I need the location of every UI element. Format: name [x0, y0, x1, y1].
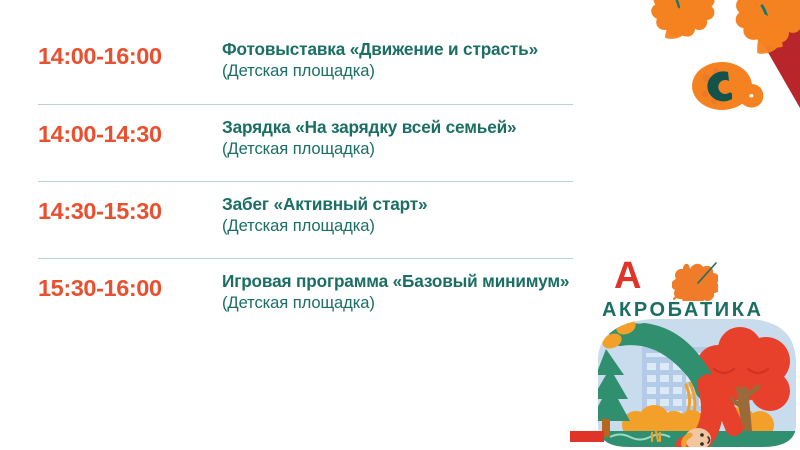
spiral-swirl-icon — [692, 62, 758, 110]
oak-leaf-icon — [733, 0, 800, 55]
schedule-info: Фотовыставка «Движение и страсть» (Детск… — [222, 38, 573, 82]
schedule-info: Забег «Активный старт» (Детская площадка… — [222, 193, 573, 237]
schedule-row[interactable]: 14:00-14:30 Зарядка «На зарядку всей сем… — [38, 104, 573, 181]
oak-leaf-icon — [672, 261, 718, 301]
schedule-event-title: Зарядка «На зарядку всей семьей» — [222, 116, 573, 138]
brand-letter: А — [614, 257, 641, 295]
schedule-time: 15:30-16:00 — [38, 270, 222, 303]
schedule-info: Игровая программа «Базовый минимум» (Дет… — [222, 270, 573, 314]
schedule-time: 14:00-16:00 — [38, 38, 222, 71]
schedule-event-title: Игровая программа «Базовый минимум» — [222, 270, 573, 292]
schedule-time: 14:00-14:30 — [38, 116, 222, 149]
schedule-event-place: (Детская площадка) — [222, 215, 573, 237]
oak-leaf-icon — [648, 0, 718, 43]
schedule-event-place: (Детская площадка) — [222, 138, 573, 160]
schedule-event-place: (Детская площадка) — [222, 292, 573, 314]
schedule-event-title: Фотовыставка «Движение и страсть» — [222, 38, 573, 60]
top-right-decoration — [600, 0, 800, 140]
schedule-info: Зарядка «На зарядку всей семьей» (Детска… — [222, 116, 573, 160]
bottom-right-branding: А АКРОБАТИКА — [590, 255, 800, 450]
illustration-scene — [590, 313, 800, 450]
red-wedge-shape — [732, 0, 800, 108]
schedule-list: 14:00-16:00 Фотовыставка «Движение и стр… — [38, 38, 573, 335]
schedule-event-place: (Детская площадка) — [222, 60, 573, 82]
schedule-row[interactable]: 14:00-16:00 Фотовыставка «Движение и стр… — [38, 38, 573, 104]
top-right-decor-svg — [600, 0, 800, 140]
acrobat-illustration — [590, 313, 800, 450]
schedule-event-title: Забег «Активный старт» — [222, 193, 573, 215]
schedule-row[interactable]: 14:30-15:30 Забег «Активный старт» (Детс… — [38, 181, 573, 258]
schedule-row[interactable]: 15:30-16:00 Игровая программа «Базовый м… — [38, 258, 573, 335]
poster-canvas: 14:00-16:00 Фотовыставка «Движение и стр… — [0, 0, 800, 450]
red-accent-tab — [570, 431, 604, 442]
schedule-time: 14:30-15:30 — [38, 193, 222, 226]
